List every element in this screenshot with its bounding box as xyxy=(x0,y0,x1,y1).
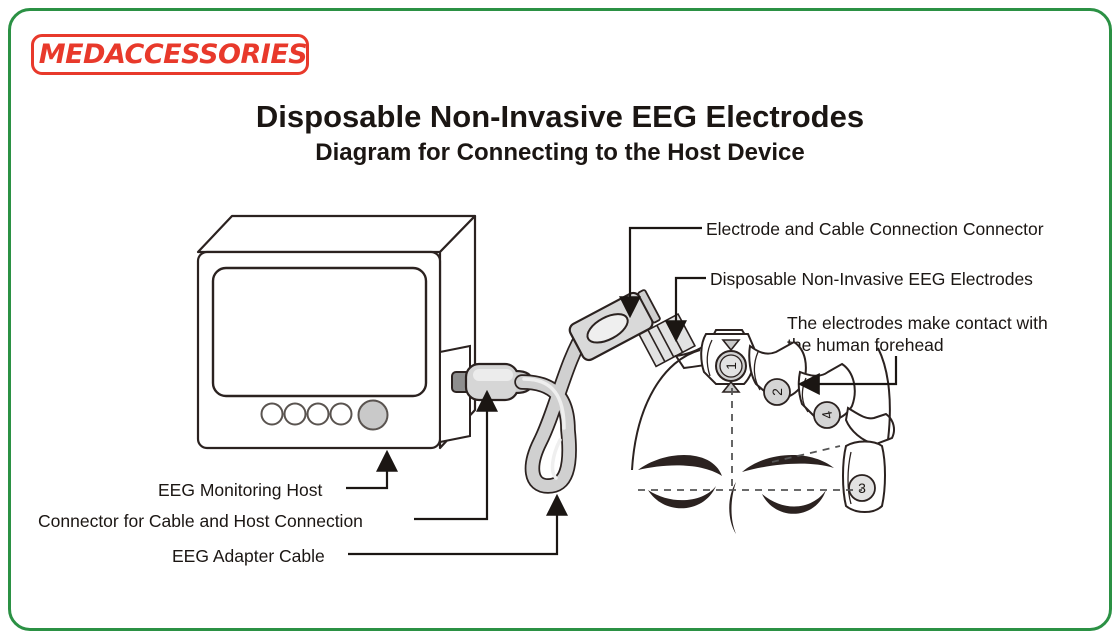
leader-host xyxy=(346,452,387,488)
electrode-number-3: 3 xyxy=(858,480,866,496)
eeg-adapter-cable xyxy=(522,330,586,486)
electrode-number-1: 1 xyxy=(723,362,739,370)
monitor-button-2 xyxy=(285,404,306,425)
electrode-number-2: 2 xyxy=(769,388,785,396)
monitor-button-3 xyxy=(308,404,329,425)
monitor-power-button xyxy=(359,401,388,430)
technical-illustration: 1 2 4 3 xyxy=(0,0,1120,639)
monitor-button-1 xyxy=(262,404,283,425)
monitor-button-4 xyxy=(331,404,352,425)
diagram-page: MEDACCESSORIES Disposable Non-Invasive E… xyxy=(0,0,1120,639)
leader-adapter xyxy=(348,496,557,554)
face-eyes xyxy=(638,455,834,534)
